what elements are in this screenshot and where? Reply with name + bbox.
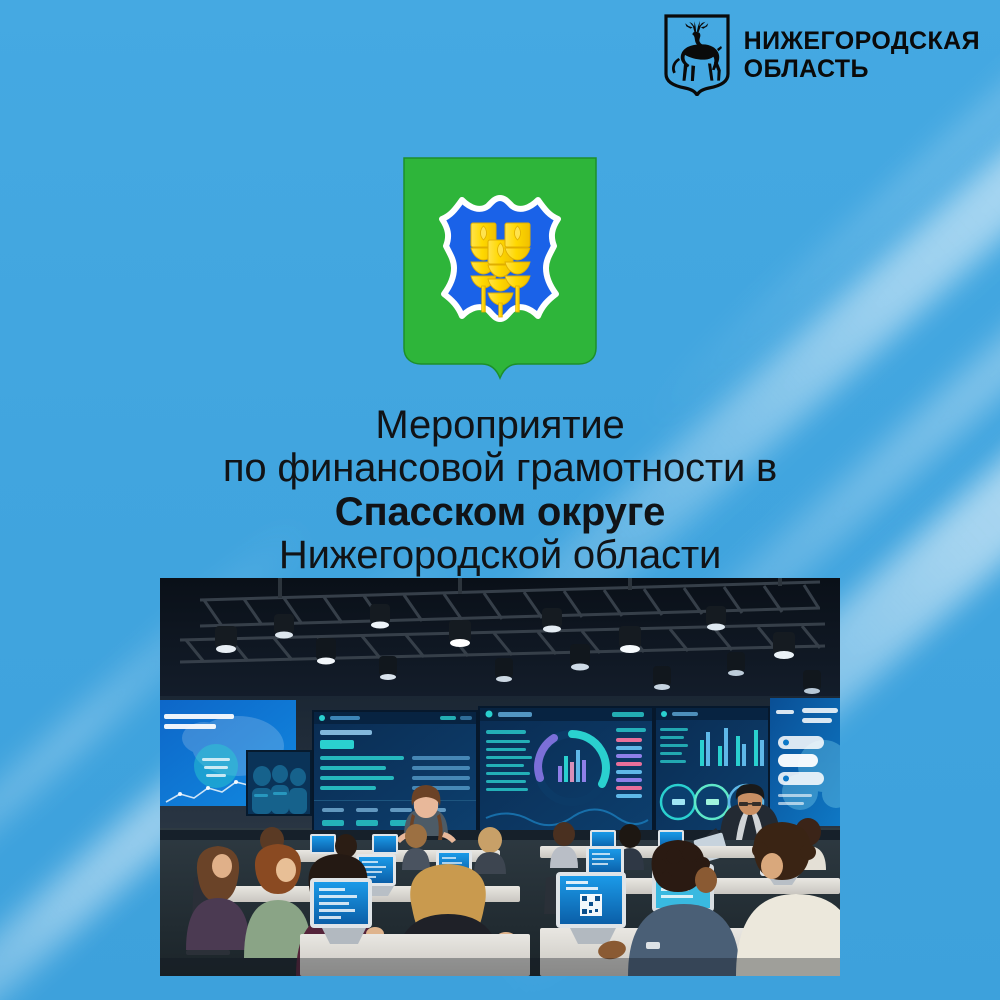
conference-hall-illustration [160,578,840,976]
title-line-3: Спасском округе [0,491,1000,534]
title-line-2: по финансовой грамотности в [0,447,1000,490]
region-logo: НИЖЕГОРОДСКАЯ ОБЛАСТЬ [664,14,980,96]
title-line-1: Мероприятие [0,404,1000,447]
region-logo-line2: ОБЛАСТЬ [744,55,980,83]
deer-shield-icon [664,14,730,96]
title-line-4: Нижегородской области [0,534,1000,577]
poster-canvas: НИЖЕГОРОДСКАЯ ОБЛАСТЬ [0,0,1000,1000]
region-logo-line1: НИЖЕГОРОДСКАЯ [744,27,980,55]
region-logo-wordmark: НИЖЕГОРОДСКАЯ ОБЛАСТЬ [744,27,980,83]
page-title: Мероприятие по финансовой грамотности в … [0,404,1000,578]
conference-hall-photo [160,578,840,976]
coat-of-arms [400,156,600,396]
